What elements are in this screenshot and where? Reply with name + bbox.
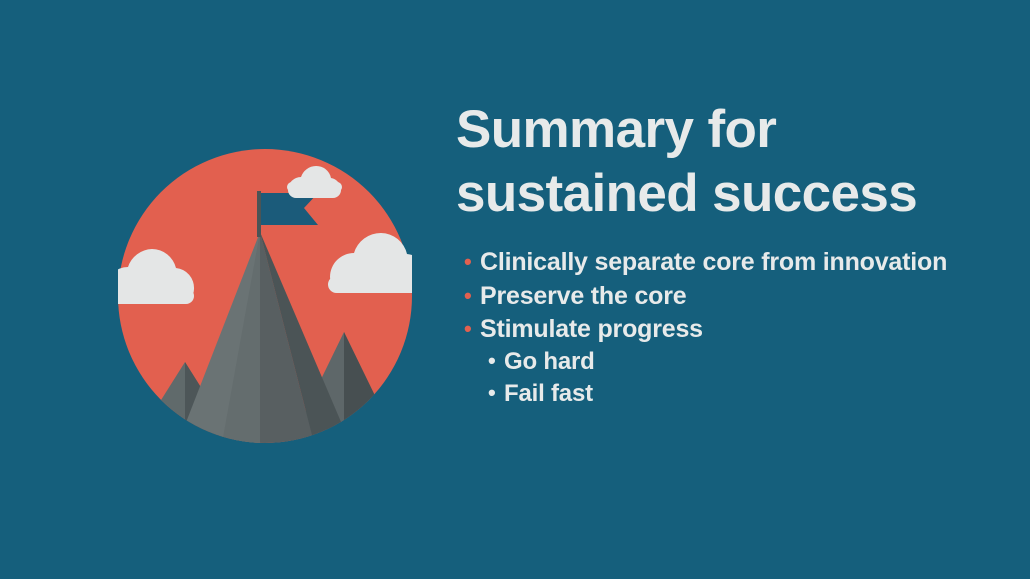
bullet-marker-icon: • xyxy=(464,251,480,273)
list-item: • Clinically separate core from innovati… xyxy=(456,246,1016,279)
list-item-label: Fail fast xyxy=(504,378,1016,410)
summary-bullet-list: • Clinically separate core from innovati… xyxy=(456,246,1016,410)
list-item: • Fail fast xyxy=(456,378,1016,410)
text-column: Summary for sustained success • Clinical… xyxy=(456,98,1016,410)
mountain-summit-illustration xyxy=(118,149,412,443)
flag-pole xyxy=(257,191,261,237)
list-item-label: Go hard xyxy=(504,346,1016,378)
list-item-label: Clinically separate core from innovation xyxy=(480,246,1016,279)
bullet-marker-icon: • xyxy=(464,318,480,340)
page-title: Summary for sustained success xyxy=(456,98,1016,226)
slide-canvas: Summary for sustained success • Clinical… xyxy=(0,0,1030,579)
list-item: • Stimulate progress xyxy=(456,313,1016,346)
list-item: • Go hard xyxy=(456,346,1016,378)
list-item-label: Preserve the core xyxy=(480,280,1016,313)
bullet-marker-icon: • xyxy=(464,285,480,307)
bullet-marker-icon: • xyxy=(488,382,504,404)
list-item-label: Stimulate progress xyxy=(480,313,1016,346)
list-item: • Preserve the core xyxy=(456,280,1016,313)
bullet-marker-icon: • xyxy=(488,350,504,372)
